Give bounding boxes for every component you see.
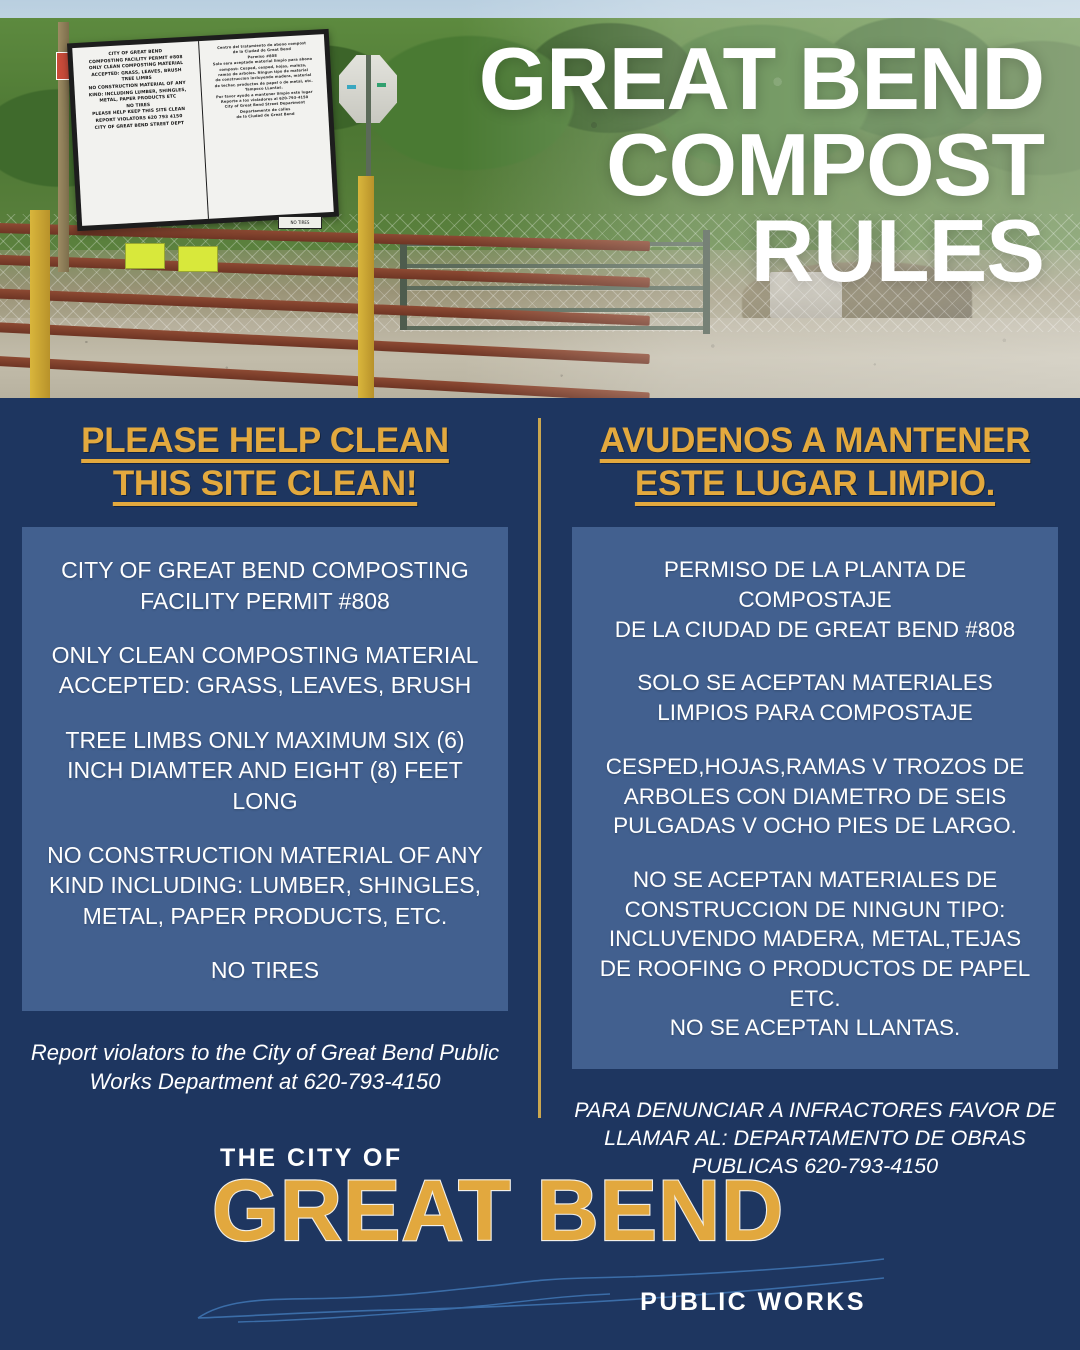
rule-item: ONLY CLEAN COMPOSTING MATERIAL ACCEPTED:… (44, 640, 486, 701)
sign-english-text: CITY OF GREAT BENDCOMPOSTING FACILITY PE… (72, 41, 207, 226)
rule-item: NO SE ACEPTAN MATERIALES DE CONSTRUCCION… (594, 865, 1036, 1043)
english-rules-panel: CITY OF GREAT BEND COMPOSTING FACILITY P… (22, 527, 508, 1011)
column-divider (538, 418, 541, 1118)
english-heading: PLEASE HELP CLEANTHIS SITE CLEAN! (0, 420, 530, 505)
english-column: PLEASE HELP CLEANTHIS SITE CLEAN! CITY O… (0, 420, 530, 1097)
sign-spanish-text: Centro del tratamiento de abono compostd… (199, 34, 334, 219)
rule-item: NO CONSTRUCTION MATERIAL OF ANY KIND INC… (44, 840, 486, 931)
rule-item: PERMISO DE LA PLANTA DE COMPOSTAJEDE LA … (594, 555, 1036, 644)
title-line: GREAT BEND (404, 36, 1044, 122)
rule-item: CITY OF GREAT BEND COMPOSTING FACILITY P… (44, 555, 486, 616)
hero-photo: CITY OF GREAT BENDCOMPOSTING FACILITY PE… (0, 0, 1080, 398)
city-logo: THE CITY OF GREAT BEND PUBLIC WORKS (0, 1138, 1080, 1338)
spanish-rules-panel: PERMISO DE LA PLANTA DE COMPOSTAJEDE LA … (572, 527, 1058, 1069)
no-tires-placard: NO TIRES (278, 216, 322, 229)
yellow-placard-left (125, 243, 165, 269)
heading-line: AVUDENOS A MANTENER (564, 420, 1066, 463)
yellow-placard-right (178, 246, 218, 272)
heading-line: PLEASE HELP CLEAN (14, 420, 516, 463)
heading-line: THIS SITE CLEAN! (14, 463, 516, 506)
spanish-column: AVUDENOS A MANTENERESTE LUGAR LIMPIO. PE… (550, 420, 1080, 1181)
heading-line: ESTE LUGAR LIMPIO. (564, 463, 1066, 506)
spanish-heading: AVUDENOS A MANTENERESTE LUGAR LIMPIO. (550, 420, 1080, 505)
rule-item: NO TIRES (44, 955, 486, 985)
logo-great-bend: GREAT BEND (212, 1168, 784, 1254)
facility-rules-sign: CITY OF GREAT BENDCOMPOSTING FACILITY PE… (67, 29, 339, 231)
logo-public-works: PUBLIC WORKS (640, 1288, 866, 1317)
page-title: GREAT BENDCOMPOSTRULES (404, 36, 1044, 295)
rule-item: SOLO SE ACEPTAN MATERIALES LIMPIOS PARA … (594, 668, 1036, 727)
title-line: RULES (404, 208, 1044, 294)
english-report-note: Report violators to the City of Great Be… (22, 1039, 508, 1096)
rule-item: TREE LIMBS ONLY MAXIMUM SIX (6) INCH DIA… (44, 725, 486, 816)
rule-item: CESPED,HOJAS,RAMAS V TROZOS DE ARBOLES C… (594, 752, 1036, 841)
title-line: COMPOST (404, 122, 1044, 208)
